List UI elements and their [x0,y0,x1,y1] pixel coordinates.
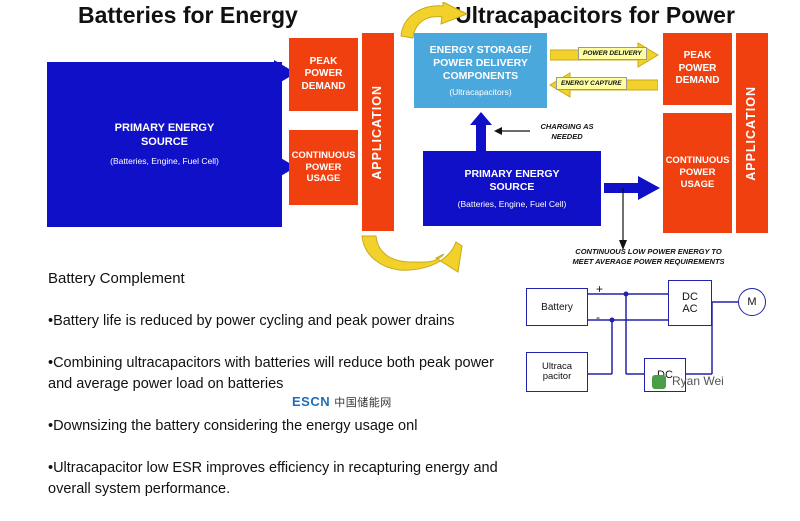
right-peak-power-demand-box: PEAK POWER DEMAND [663,33,732,105]
right-primary-energy-source-sublabel: (Batteries, Engine, Fuel Cell) [458,199,567,210]
right-peak-power-demand-label: PEAK POWER DEMAND [676,50,720,88]
charging-callout-leader-line [494,126,530,136]
right-energy-storage-label: ENERGY STORAGE/ POWER DELIVERY COMPONENT… [430,44,532,83]
left-continuous-power-usage-label: CONTINUOUS POWER USAGE [292,150,356,186]
escn-watermark-cn: 中国储能网 [334,397,392,409]
right-continuous-power-usage-label: CONTINUOUS POWER USAGE [666,155,730,191]
label-power-delivery: POWER DELIVERY [578,47,647,60]
wechat-logo-icon [652,375,666,389]
right-branch-line [616,188,630,250]
left-peak-power-demand-box: PEAK POWER DEMAND [289,38,358,111]
left-peak-power-demand-label: PEAK POWER DEMAND [302,56,346,94]
text-block: Battery Complement •Battery life is redu… [48,247,508,521]
note-continuous-low-power: CONTINUOUS LOW POWER ENERGY TO MEET AVER… [556,247,741,267]
text-heading: Battery Complement [48,268,508,290]
escn-watermark: ESCN 中国储能网 [292,394,392,410]
bullet-2: •Combining ultracapacitors with batterie… [48,353,508,395]
right-primary-energy-source-box: PRIMARY ENERGY SOURCE (Batteries, Engine… [423,151,601,226]
right-arrow-charging-up [468,112,494,152]
right-application-box: APPLICATION [736,33,768,233]
left-primary-energy-source-label: PRIMARY ENERGY SOURCE [115,122,215,150]
right-arrow-to-application [604,174,662,202]
escn-watermark-text: ESCN [292,394,330,409]
label-energy-capture: ENERGY CAPTURE [556,77,627,90]
right-energy-storage-sublabel: (Ultracapacitors) [449,87,511,98]
left-primary-energy-source-sublabel: (Batteries, Engine, Fuel Cell) [110,156,219,167]
right-continuous-power-usage-box: CONTINUOUS POWER USAGE [663,113,732,233]
title-batteries-for-energy: Batteries for Energy [78,2,298,29]
right-application-label: APPLICATION [744,86,760,181]
wechat-watermark: Ryan Wei [672,374,724,388]
right-energy-storage-box: ENERGY STORAGE/ POWER DELIVERY COMPONENT… [414,33,547,108]
title-ultracapacitors-for-power: Ultracapacitors for Power [455,2,735,29]
note-charging-as-needed: CHARGING AS NEEDED [527,122,607,142]
bullet-4: •Ultracapacitor low ESR improves efficie… [48,458,508,500]
left-application-box: APPLICATION [362,33,394,231]
left-continuous-power-usage-box: CONTINUOUS POWER USAGE [289,130,358,205]
bullet-1: •Battery life is reduced by power cyclin… [48,311,508,332]
bullet-3: •Downsizing the battery considering the … [48,416,508,437]
right-primary-energy-source-label: PRIMARY ENERGY SOURCE [464,168,559,194]
left-application-label: APPLICATION [370,85,386,180]
